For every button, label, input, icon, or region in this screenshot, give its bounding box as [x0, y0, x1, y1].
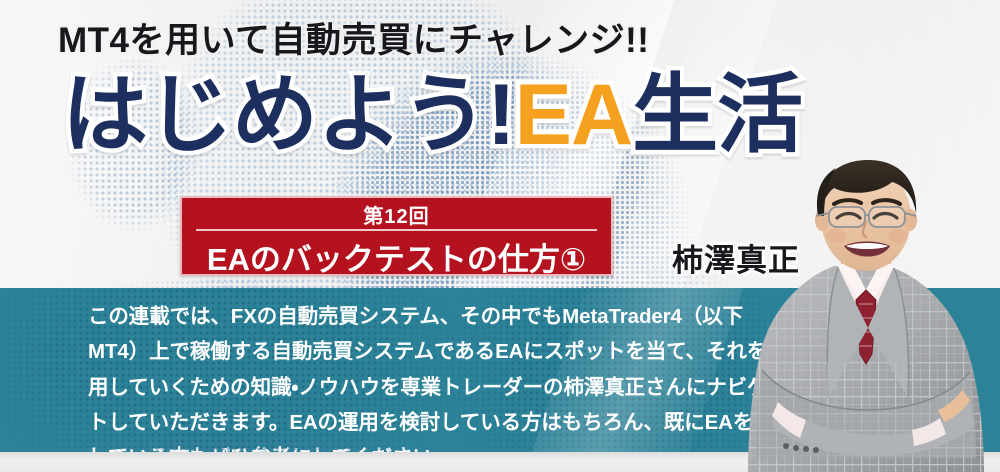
ea-life-article-banner: MT4を用いて自動売買にチャレンジ!! はじめよう!EA生活 第12回 EAのバ…: [0, 0, 1000, 472]
title-part-seikatsu: 生活: [632, 72, 802, 158]
episode-banner: 第12回 EAのバックテストの仕方①: [180, 196, 613, 276]
article-title: EAのバックテストの仕方①: [182, 234, 611, 279]
tagline: MT4を用いて自動売買にチャレンジ!!: [58, 12, 649, 63]
title-part-hajimeyou: はじめよう!: [62, 72, 515, 158]
description-line: 用していくための知識・ノウハウを専業トレーダーの柿澤真正さんにナビゲー: [88, 370, 728, 405]
author-portrait-photo: [742, 158, 990, 472]
description-line: MT4）上で稼働する自動売買システムであるEAにスポットを当て、それを運: [88, 334, 728, 369]
page-title: はじめよう!EA生活: [62, 72, 802, 158]
description-line: この連載では、FXの自動売買システム、その中でもMetaTrader4（以下: [88, 299, 728, 334]
description-line: トしていただきます。EAの運用を検討している方はもちろん、既にEAを利用: [88, 405, 728, 440]
description-text: この連載では、FXの自動売買システム、その中でもMetaTrader4（以下 M…: [88, 299, 728, 452]
episode-divider: [196, 229, 597, 231]
episode-number-label: 第12回: [182, 200, 611, 229]
title-part-ea: EA: [515, 72, 632, 158]
